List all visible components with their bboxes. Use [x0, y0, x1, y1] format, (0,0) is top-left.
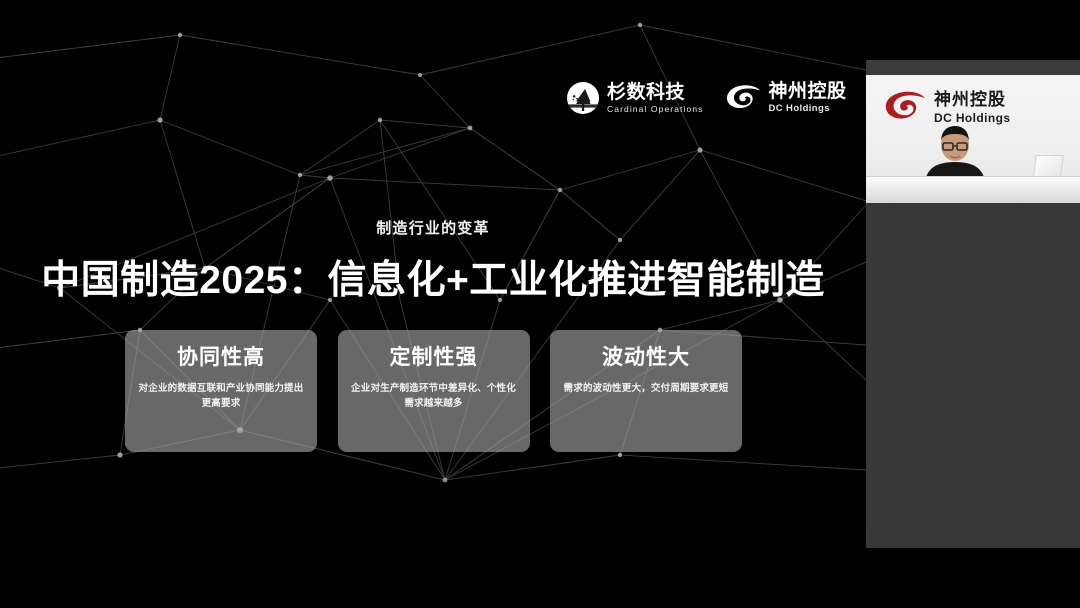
feature-card-3-title: 波动性大 [602, 346, 690, 369]
feature-card-2: 定制性强 企业对生产制造环节中差异化、个性化需求越来越多 [338, 330, 530, 452]
wall-brand-name-cn: 神州控股 [934, 91, 1010, 108]
feature-card-1-body: 对企业的数据互联和产业协同能力提出更高要求 [136, 382, 306, 411]
feature-card-3-body: 需求的波动性更大，交付周期要求更短 [561, 382, 731, 397]
desk-surface [866, 176, 1080, 203]
wall-brand-name-en: DC Holdings [934, 112, 1010, 124]
logo-cardinal-text: 杉数科技 Cardinal Operations [607, 83, 704, 114]
logo-dc-holdings-name-cn: 神州控股 [769, 82, 847, 101]
slide-logo-bar: 杉数科技 Cardinal Operations 神州控股 DC Holding… [566, 72, 856, 124]
feature-card-3: 波动性大 需求的波动性更大，交付周期要求更短 [550, 330, 742, 452]
feature-card-group: 协同性高 对企业的数据互联和产业协同能力提出更高要求 定制性强 企业对生产制造环… [125, 330, 742, 452]
swirl-spiral-mark-icon [724, 83, 762, 113]
feature-card-1: 协同性高 对企业的数据互联和产业协同能力提出更高要求 [125, 330, 317, 452]
speaker-video-feed[interactable]: 神州控股 DC Holdings [866, 75, 1080, 203]
wall-brand-lockup: 神州控股 DC Holdings [882, 89, 1010, 125]
logo-cardinal-operations: 杉数科技 Cardinal Operations [566, 81, 704, 115]
screen-root: 杉数科技 Cardinal Operations 神州控股 DC Holding… [0, 0, 1080, 608]
slide-main-title: 中国制造2025：信息化+工业化推进智能制造 [0, 249, 866, 305]
logo-dc-holdings-name-en: DC Holdings [769, 104, 847, 114]
video-panel-top-strip [866, 60, 1080, 75]
logo-dc-holdings: 神州控股 DC Holdings [724, 82, 847, 114]
swirl-spiral-mark-icon [882, 89, 928, 125]
logo-cardinal-name-en: Cardinal Operations [607, 105, 704, 114]
slide-eyebrow-text: 制造行业的变革 [0, 217, 866, 238]
logo-dc-holdings-text: 神州控股 DC Holdings [769, 82, 847, 114]
background-bottom-fade [0, 470, 866, 608]
logo-cardinal-name-cn: 杉数科技 [607, 83, 704, 102]
presentation-slide: 杉数科技 Cardinal Operations 神州控股 DC Holding… [0, 0, 866, 608]
feature-card-2-body: 企业对生产制造环节中差异化、个性化需求越来越多 [349, 382, 519, 411]
video-panel-filler [866, 203, 1080, 548]
speaker-video-panel[interactable]: 神州控股 DC Holdings [866, 60, 1080, 548]
circular-tree-mark-icon [566, 81, 600, 115]
feature-card-2-title: 定制性强 [390, 346, 478, 369]
feature-card-1-title: 协同性高 [177, 346, 265, 369]
